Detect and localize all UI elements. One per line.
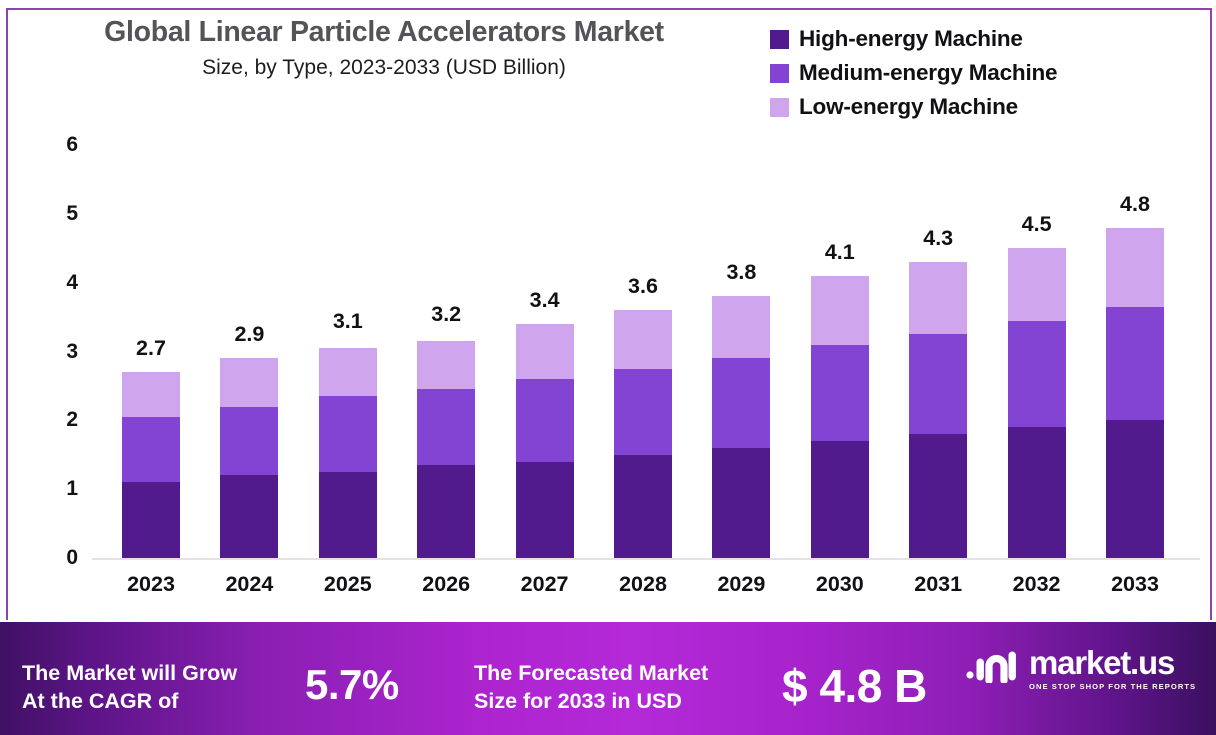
x-axis-tick-2023: 2023 (101, 572, 201, 597)
bar-value-label-2024: 2.9 (234, 322, 264, 347)
bars-layer (0, 0, 1216, 558)
bar-2023 (122, 372, 180, 558)
bar-segment-low-energy-machine (417, 341, 475, 389)
x-axis-tick-2025: 2025 (298, 572, 398, 597)
x-axis-baseline (92, 558, 1200, 560)
forecast-caption: The Forecasted Market Size for 2033 in U… (474, 660, 708, 715)
bar-value-label-2025: 3.1 (333, 309, 363, 334)
bar-segment-low-energy-machine (909, 262, 967, 334)
forecast-caption-line2: Size for 2033 in USD (474, 688, 708, 716)
forecast-value: $ 4.8 B (782, 659, 927, 713)
bar-value-label-2027: 3.4 (530, 288, 560, 313)
x-axis-tick-2033: 2033 (1085, 572, 1185, 597)
bar-segment-medium-energy-machine (1008, 321, 1066, 428)
bar-2028 (614, 310, 672, 558)
market-us-logo-icon (965, 649, 1021, 688)
bar-2029 (712, 296, 770, 558)
bar-segment-medium-energy-machine (220, 407, 278, 476)
x-axis-tick-2030: 2030 (790, 572, 890, 597)
x-axis-tick-2024: 2024 (199, 572, 299, 597)
bar-segment-high-energy-machine (220, 475, 278, 558)
bar-segment-low-energy-machine (614, 310, 672, 369)
bar-2024 (220, 358, 278, 558)
bar-value-label-2026: 3.2 (431, 302, 461, 327)
x-axis-tick-2028: 2028 (593, 572, 693, 597)
bar-value-label-2023: 2.7 (136, 336, 166, 361)
bar-segment-high-energy-machine (1106, 420, 1164, 558)
bar-segment-low-energy-machine (220, 358, 278, 406)
bar-segment-medium-energy-machine (319, 396, 377, 472)
bar-segment-high-energy-machine (1008, 427, 1066, 558)
bar-segment-medium-energy-machine (712, 358, 770, 447)
plot-area: 0123456 20232024202520262027202820292030… (0, 0, 1216, 620)
bar-segment-medium-energy-machine (122, 417, 180, 482)
logo-wordmark: market.us (1029, 646, 1196, 679)
bar-segment-high-energy-machine (614, 455, 672, 558)
x-axis-tick-2026: 2026 (396, 572, 496, 597)
x-axis-tick-2032: 2032 (987, 572, 1087, 597)
bar-segment-low-energy-machine (1008, 248, 1066, 320)
bar-segment-low-energy-machine (122, 372, 180, 417)
bar-segment-medium-energy-machine (516, 379, 574, 462)
bar-segment-high-energy-machine (319, 472, 377, 558)
bar-2026 (417, 341, 475, 558)
cagr-caption: The Market will Grow At the CAGR of (22, 660, 237, 715)
bar-segment-medium-energy-machine (614, 369, 672, 455)
bar-value-label-2032: 4.5 (1022, 212, 1052, 237)
x-axis-tick-2027: 2027 (495, 572, 595, 597)
bar-value-label-2033: 4.8 (1120, 192, 1150, 217)
bar-segment-low-energy-machine (516, 324, 574, 379)
market-us-logo-text: market.us ONE STOP SHOP FOR THE REPORTS (1029, 646, 1196, 691)
bar-segment-low-energy-machine (319, 348, 377, 396)
bar-segment-high-energy-machine (122, 482, 180, 558)
bar-2030 (811, 276, 869, 558)
bar-value-label-2029: 3.8 (726, 260, 756, 285)
bar-segment-medium-energy-machine (1106, 307, 1164, 421)
bar-2031 (909, 262, 967, 558)
bar-2027 (516, 324, 574, 558)
bar-segment-medium-energy-machine (811, 345, 869, 441)
bar-2033 (1106, 228, 1164, 558)
logo-tagline: ONE STOP SHOP FOR THE REPORTS (1029, 682, 1196, 691)
bar-segment-high-energy-machine (516, 462, 574, 558)
cagr-value: 5.7% (305, 661, 399, 709)
cagr-caption-line1: The Market will Grow (22, 660, 237, 688)
bar-value-label-2028: 3.6 (628, 274, 658, 299)
bar-segment-medium-energy-machine (417, 389, 475, 465)
cagr-caption-line2: At the CAGR of (22, 688, 237, 716)
infographic-root: Global Linear Particle Accelerators Mark… (0, 0, 1216, 735)
bar-segment-low-energy-machine (712, 296, 770, 358)
bar-segment-high-energy-machine (712, 448, 770, 558)
bar-segment-high-energy-machine (909, 434, 967, 558)
bar-segment-high-energy-machine (811, 441, 869, 558)
bar-segment-medium-energy-machine (909, 334, 967, 434)
bar-segment-high-energy-machine (417, 465, 475, 558)
bar-value-label-2030: 4.1 (825, 240, 855, 265)
market-us-logo[interactable]: market.us ONE STOP SHOP FOR THE REPORTS (965, 646, 1196, 691)
bar-segment-low-energy-machine (811, 276, 869, 345)
bar-segment-low-energy-machine (1106, 228, 1164, 307)
bar-2025 (319, 348, 377, 558)
x-axis-tick-2031: 2031 (888, 572, 988, 597)
x-axis-tick-2029: 2029 (691, 572, 791, 597)
forecast-caption-line1: The Forecasted Market (474, 660, 708, 688)
bar-value-label-2031: 4.3 (923, 226, 953, 251)
bar-2032 (1008, 248, 1066, 558)
